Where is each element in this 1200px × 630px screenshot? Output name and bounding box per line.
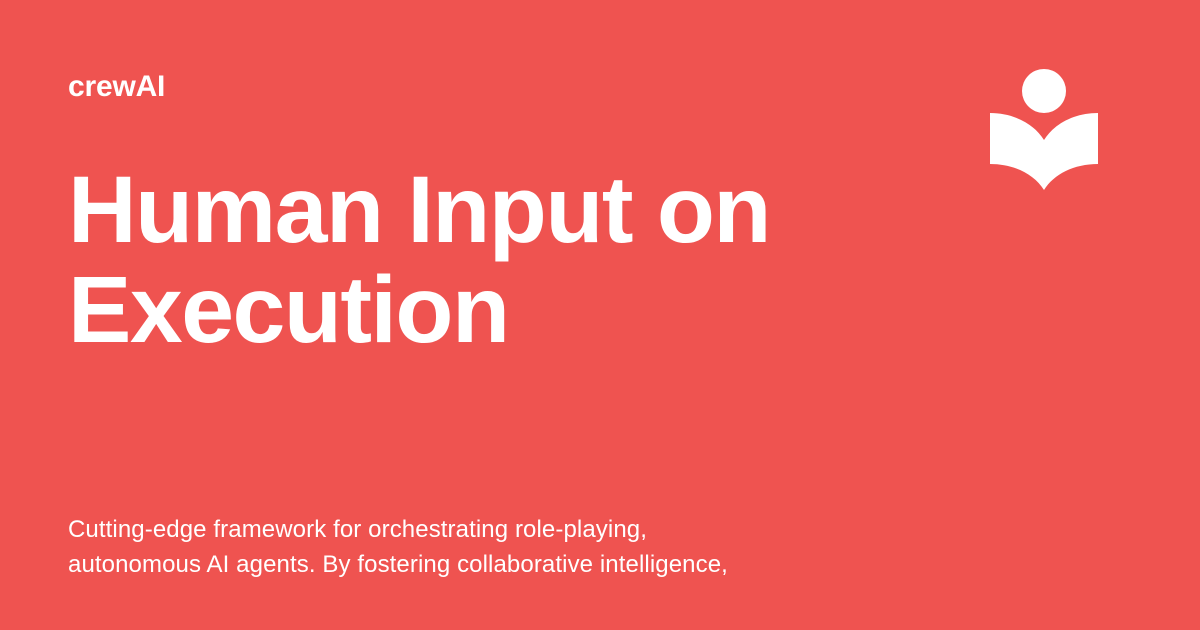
social-preview-card: crewAI Human Input on Execution Cutting-… xyxy=(0,0,1200,630)
reader-head-icon xyxy=(1022,69,1066,113)
book-right-page-icon xyxy=(1044,113,1098,190)
open-book-reader-icon xyxy=(986,64,1104,196)
description-line-2: autonomous AI agents. By fostering colla… xyxy=(68,547,968,582)
brand-wordmark: crewAI xyxy=(68,70,165,104)
page-title: Human Input on Execution xyxy=(68,160,848,360)
book-left-page-icon xyxy=(990,113,1044,190)
description-line-1: Cutting-edge framework for orchestrating… xyxy=(68,512,968,547)
page-description: Cutting-edge framework for orchestrating… xyxy=(68,512,968,582)
